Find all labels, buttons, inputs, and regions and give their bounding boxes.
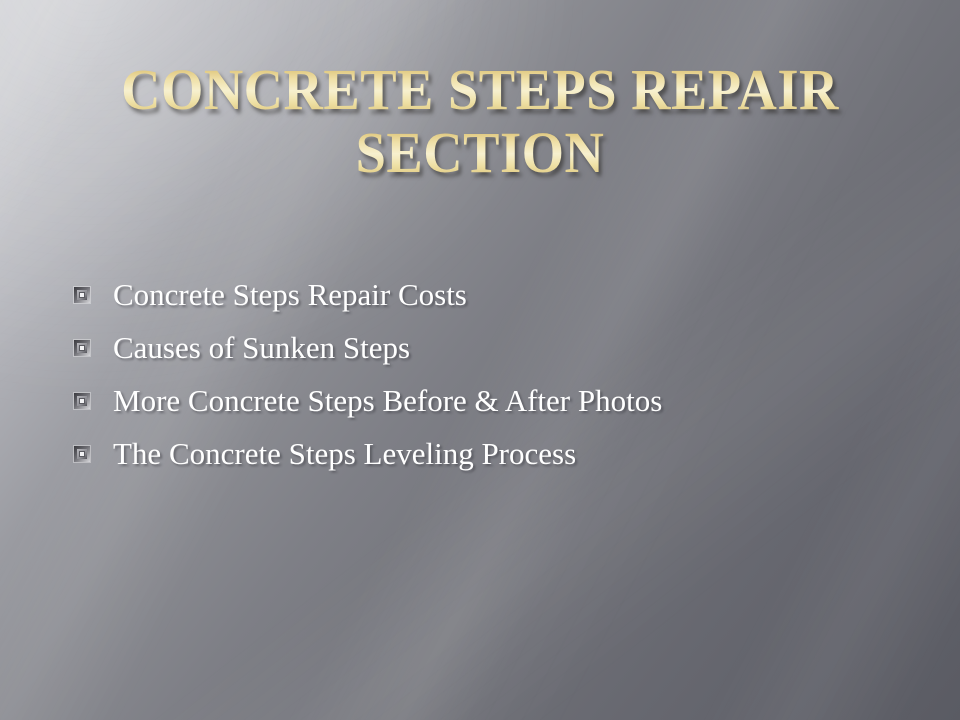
- box-bullet-icon: [74, 340, 90, 356]
- list-item-label: More Concrete Steps Before & After Photo…: [113, 384, 662, 418]
- slide-title-line-1: CONCRETE STEPS REPAIR: [85, 58, 875, 121]
- list-item-label: Concrete Steps Repair Costs: [113, 278, 467, 312]
- list-item[interactable]: The Concrete Steps Leveling Process: [70, 427, 900, 480]
- slide-title-line-2: SECTION: [85, 121, 875, 184]
- box-bullet-icon: [74, 287, 90, 303]
- list-item-label: Causes of Sunken Steps: [113, 331, 410, 365]
- box-bullet-icon: [74, 446, 90, 462]
- presentation-slide: CONCRETE STEPS REPAIR SECTION Concrete S…: [0, 0, 960, 720]
- slide-title: CONCRETE STEPS REPAIR SECTION: [60, 58, 900, 184]
- list-item-label: The Concrete Steps Leveling Process: [113, 437, 576, 471]
- list-item[interactable]: Concrete Steps Repair Costs: [70, 268, 900, 321]
- slide-bullet-list: Concrete Steps Repair Costs Causes of Su…: [70, 268, 900, 480]
- list-item[interactable]: More Concrete Steps Before & After Photo…: [70, 374, 900, 427]
- list-item[interactable]: Causes of Sunken Steps: [70, 321, 900, 374]
- box-bullet-icon: [74, 393, 90, 409]
